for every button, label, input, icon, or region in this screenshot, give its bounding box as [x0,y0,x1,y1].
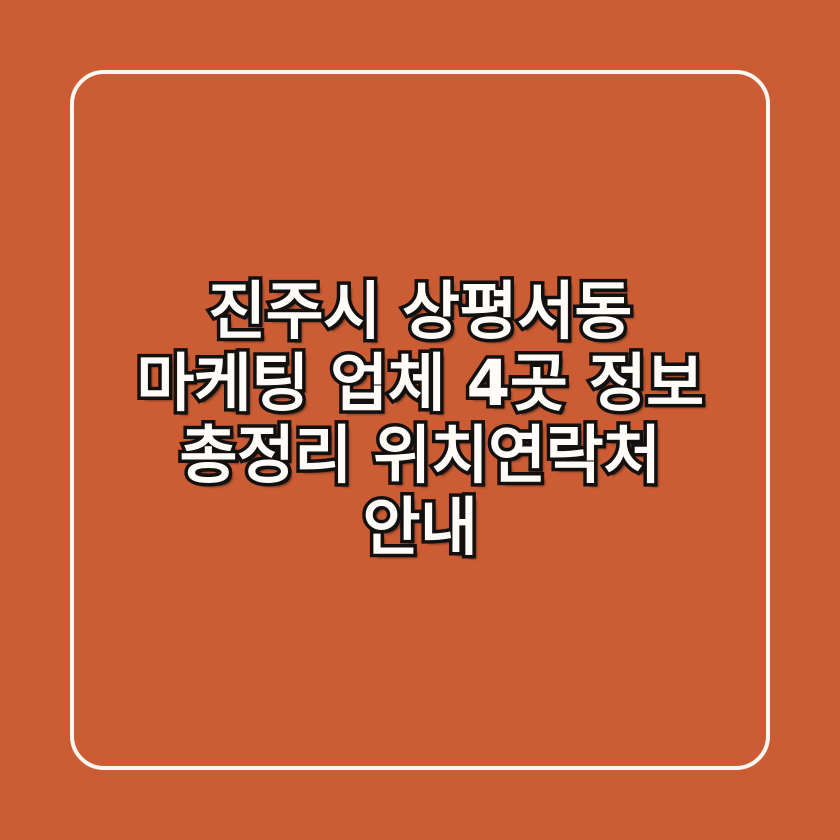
title-line-3: 총정리 위치연락처 [84,420,756,492]
title-line-1: 진주시 상평서동 [84,276,756,348]
title-block: 진주시 상평서동 마케팅 업체 4곳 정보 총정리 위치연락처 안내 [70,70,770,770]
poster-canvas: 진주시 상평서동 마케팅 업체 4곳 정보 총정리 위치연락처 안내 [0,0,840,840]
title-line-2: 마케팅 업체 4곳 정보 [84,348,756,420]
title-line-4: 안내 [84,492,756,564]
